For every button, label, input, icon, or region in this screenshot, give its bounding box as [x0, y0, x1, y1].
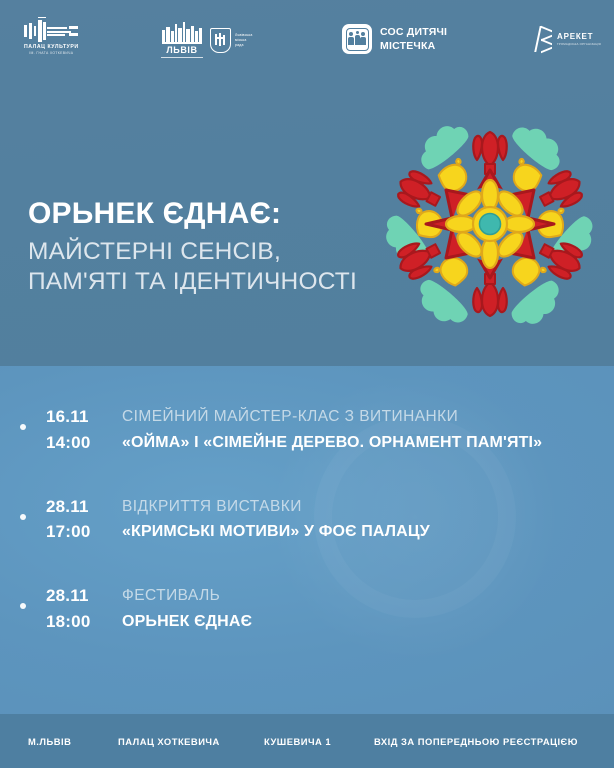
event-item: 16.11 14:00 СІМЕЙНИЙ МАЙСТЕР-КЛАС З ВИТИ…: [0, 404, 614, 456]
logo-sos-childrens-villages: СОС ДИТЯЧІ МІСТЕЧКА: [342, 24, 447, 54]
event-datetime: 28.11 17:00: [46, 494, 112, 546]
bullet-icon: [20, 514, 26, 520]
logo-lviv-city-council: Львівська міська рада: [210, 28, 253, 53]
event-description: СІМЕЙНИЙ МАЙСТЕР-КЛАС З ВИТИНАНКИ «ОЙМА»…: [112, 404, 614, 455]
palace-of-culture-icon: [24, 20, 78, 42]
event-poster: ПАЛАЦ КУЛЬТУРИ ІМ. ГНАТА ХОТКЕВИЧА ЛЬВІВ: [0, 0, 614, 768]
logo-palace-of-culture: ПАЛАЦ КУЛЬТУРИ ІМ. ГНАТА ХОТКЕВИЧА: [24, 20, 79, 56]
logo-palace-of-culture-subtitle: ІМ. ГНАТА ХОТКЕВИЧА: [29, 52, 73, 56]
headline-subtitle-line-2: ПАМ'ЯТІ ТА ІДЕНТИЧНОСТІ: [28, 267, 388, 297]
poster-headline: ОРЬНЕК ЄДНАЄ: МАЙСТЕРНІ СЕНСІВ, ПАМ'ЯТІ …: [28, 196, 388, 297]
ornek-mandala-ornament: [378, 112, 602, 336]
logo-areket-subtitle: ГРОМАДСЬКА ОРГАНІЗАЦІЯ: [557, 42, 601, 46]
event-kicker: ФЕСТИВАЛЬ: [122, 583, 614, 609]
event-title: «ОЙМА» І «СІМЕЙНЕ ДЕРЕВО. ОРНАМЕНТ ПАМ'Я…: [122, 430, 614, 456]
event-time: 14:00: [46, 430, 112, 456]
ornament-center-dot: [480, 214, 501, 235]
event-time: 17:00: [46, 519, 112, 545]
event-description: ВІДКРИТТЯ ВИСТАВКИ «КРИМСЬКІ МОТИВИ» У Ф…: [112, 494, 614, 545]
areket-symbol-icon: [536, 26, 553, 52]
sos-line-1: СОС ДИТЯЧІ: [380, 25, 447, 39]
event-datetime: 16.11 14:00: [46, 404, 112, 456]
logo-lviv-city-council-text: Львівська міська рада: [235, 33, 253, 49]
headline-main-title: ОРЬНЕК ЄДНАЄ:: [28, 196, 388, 231]
footer-city: М.ЛЬВІВ: [28, 736, 71, 747]
logo-areket: АРЕКЕТ ГРОМАДСЬКА ОРГАНІЗАЦІЯ: [536, 26, 601, 52]
headline-subtitle-line-1: МАЙСТЕРНІ СЕНСІВ,: [28, 237, 388, 267]
event-title: «КРИМСЬКІ МОТИВИ» У ФОЄ ПАЛАЦУ: [122, 519, 614, 545]
event-date: 28.11: [46, 494, 112, 520]
logo-lviv: ЛЬВІВ: [160, 22, 204, 58]
event-title: ОРЬНЕК ЄДНАЄ: [122, 609, 614, 635]
event-time: 18:00: [46, 609, 112, 635]
event-description: ФЕСТИВАЛЬ ОРЬНЕК ЄДНАЄ: [112, 583, 614, 634]
event-kicker: СІМЕЙНИЙ МАЙСТЕР-КЛАС З ВИТИНАНКИ: [122, 404, 614, 430]
event-item: 28.11 17:00 ВІДКРИТТЯ ВИСТАВКИ «КРИМСЬКІ…: [0, 494, 614, 546]
bullet-icon: [20, 424, 26, 430]
sos-family-icon: [342, 24, 372, 54]
lviv-skyline-icon: [160, 22, 204, 44]
poster-footer: М.ЛЬВІВ ПАЛАЦ ХОТКЕВИЧА КУШЕВИЧА 1 ВХІД …: [0, 714, 614, 768]
sos-line-2: МІСТЕЧКА: [380, 39, 447, 53]
event-item: 28.11 18:00 ФЕСТИВАЛЬ ОРЬНЕК ЄДНАЄ: [0, 583, 614, 635]
event-schedule-list: 16.11 14:00 СІМЕЙНИЙ МАЙСТЕР-КЛАС З ВИТИ…: [0, 404, 614, 673]
footer-registration-note: ВХІД ЗА ПОПЕРЕДНЬОЮ РЕЄСТРАЦІЄЮ: [374, 736, 578, 747]
logo-lviv-rule: [161, 57, 203, 58]
logo-areket-text: АРЕКЕТ ГРОМАДСЬКА ОРГАНІЗАЦІЯ: [557, 32, 601, 47]
logo-areket-word: АРЕКЕТ: [557, 32, 601, 41]
event-datetime: 28.11 18:00: [46, 583, 112, 635]
logo-palace-of-culture-title: ПАЛАЦ КУЛЬТУРИ: [24, 45, 79, 51]
footer-venue: ПАЛАЦ ХОТКЕВИЧА: [118, 736, 220, 747]
logo-lviv-word: ЛЬВІВ: [166, 45, 197, 55]
crest-line-3: рада: [235, 43, 253, 48]
bullet-icon: [20, 603, 26, 609]
footer-address: КУШЕВИЧА 1: [264, 736, 331, 747]
logo-sos-text: СОС ДИТЯЧІ МІСТЕЧКА: [380, 25, 447, 53]
lviv-crest-icon: [210, 28, 231, 53]
sponsor-logo-bar: ПАЛАЦ КУЛЬТУРИ ІМ. ГНАТА ХОТКЕВИЧА ЛЬВІВ: [0, 0, 614, 80]
event-date: 28.11: [46, 583, 112, 609]
event-kicker: ВІДКРИТТЯ ВИСТАВКИ: [122, 494, 614, 520]
event-date: 16.11: [46, 404, 112, 430]
